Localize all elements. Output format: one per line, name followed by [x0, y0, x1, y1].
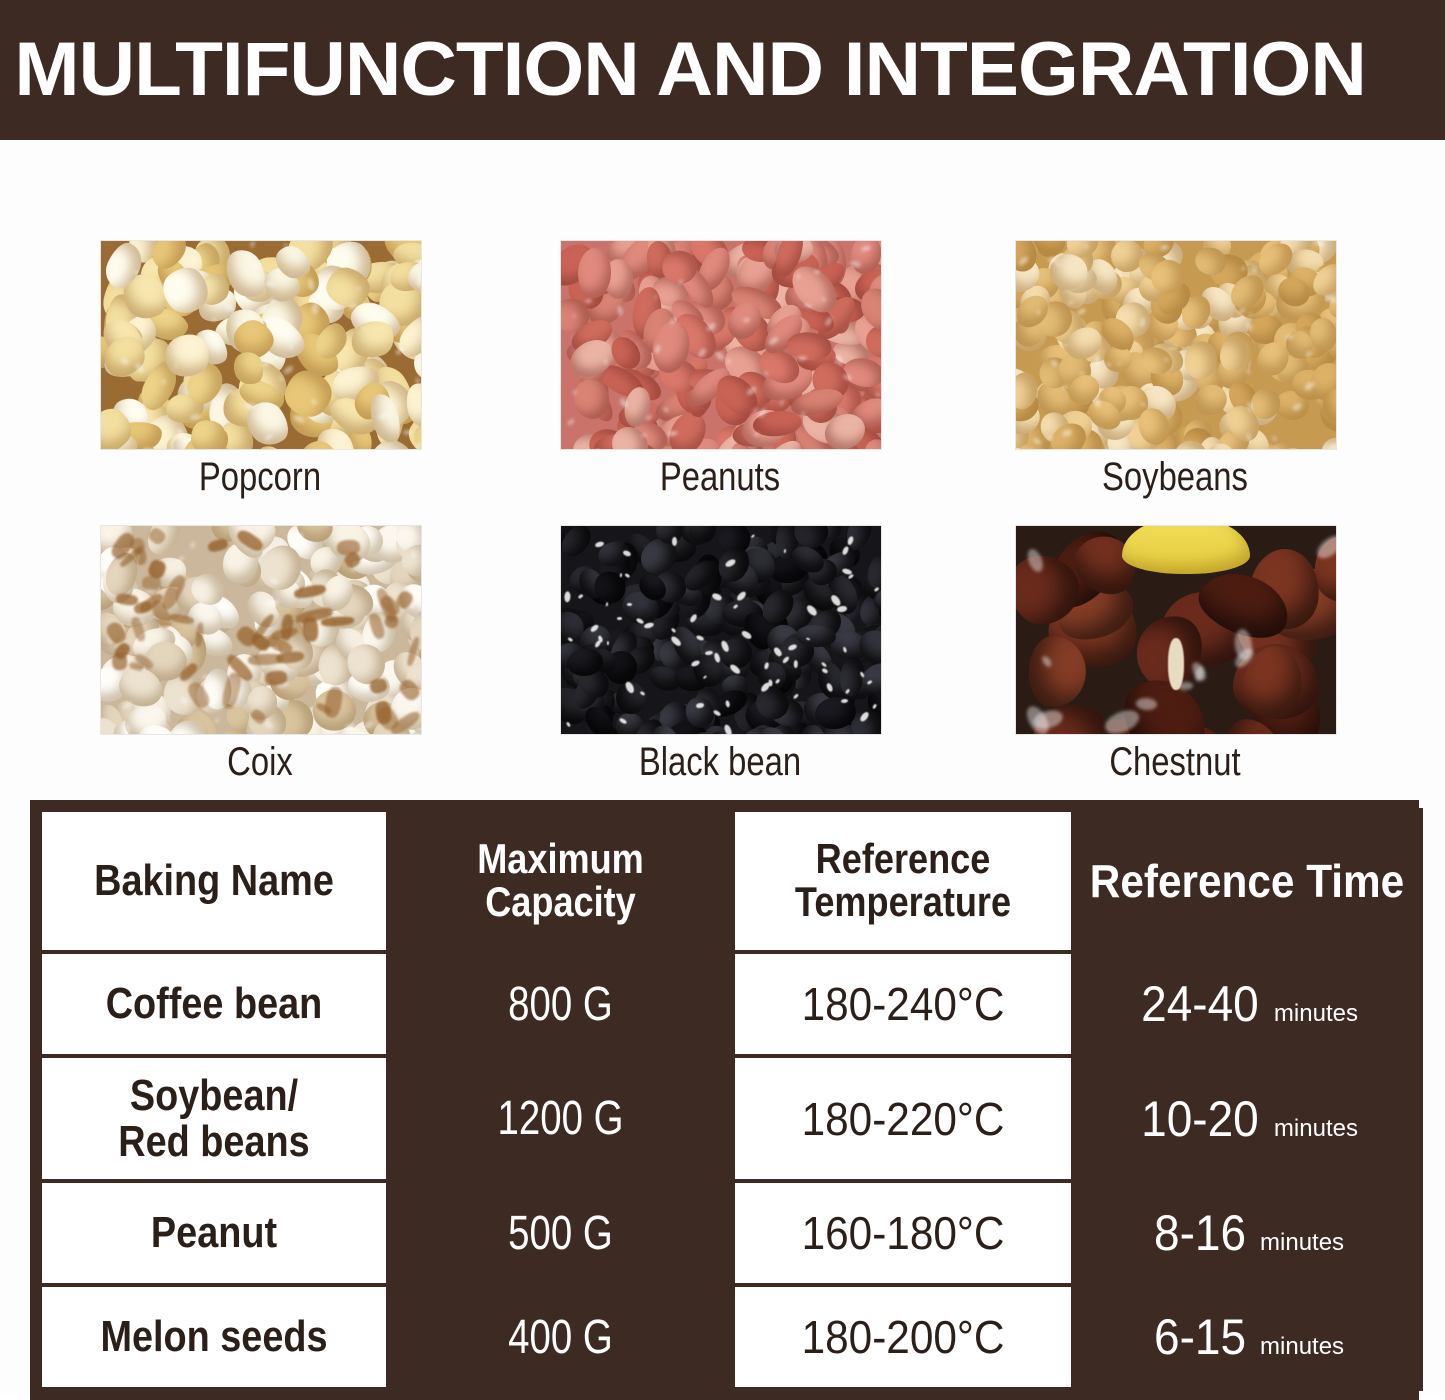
- gallery-item-label: Coix: [129, 741, 391, 783]
- time-value: 6-15: [1154, 1308, 1246, 1366]
- time-unit: minutes: [1274, 1115, 1358, 1142]
- table-row: Melon seeds 400 G 180-200°C 6-15minutes: [40, 1285, 1421, 1389]
- gallery-item-coix: Coix: [100, 525, 420, 783]
- cell-reference-temperature: 160-180°C: [733, 1181, 1073, 1285]
- cell-reference-time: 24-40minutes: [1073, 952, 1421, 1056]
- soybeans-photo: [1015, 240, 1337, 450]
- specification-table-container: Baking Name Maximum Capacity Reference T…: [30, 800, 1419, 1400]
- gallery-item-chestnut: Chestnut: [1015, 525, 1335, 783]
- table-row: Peanut 500 G 160-180°C 8-16minutes: [40, 1181, 1421, 1285]
- cell-reference-time: 6-15minutes: [1073, 1285, 1421, 1389]
- column-header-reference-temperature: Reference Temperature: [733, 810, 1073, 952]
- cell-baking-name: Coffee bean: [40, 952, 388, 1056]
- gallery-item-label: Soybeans: [1044, 456, 1306, 498]
- cell-reference-temperature: 180-220°C: [733, 1056, 1073, 1181]
- cell-maximum-capacity: 500 G: [388, 1181, 733, 1285]
- popcorn-photo: [100, 240, 422, 450]
- gallery-item-label: Peanuts: [589, 456, 851, 498]
- gallery-item-popcorn: Popcorn: [100, 240, 420, 498]
- column-header-maximum-capacity: Maximum Capacity: [388, 810, 733, 952]
- cell-baking-name: Peanut: [40, 1181, 388, 1285]
- gallery-item-black-bean: Black bean: [560, 525, 880, 783]
- time-value: 10-20: [1141, 1090, 1259, 1148]
- product-gallery: Popcorn Peanuts Soybeans Coix Black bean…: [0, 150, 1445, 790]
- column-header-baking-name: Baking Name: [40, 810, 388, 952]
- column-header-reference-time: Reference Time: [1073, 810, 1421, 952]
- cell-maximum-capacity: 400 G: [388, 1285, 733, 1389]
- cell-baking-name: Soybean/ Red beans: [40, 1056, 388, 1181]
- time-unit: minutes: [1260, 1229, 1344, 1256]
- time-value: 8-16: [1154, 1204, 1246, 1262]
- gallery-item-soybeans: Soybeans: [1015, 240, 1335, 498]
- cell-reference-time: 10-20minutes: [1073, 1056, 1421, 1181]
- cell-baking-name: Melon seeds: [40, 1285, 388, 1389]
- cell-reference-temperature: 180-240°C: [733, 952, 1073, 1056]
- gallery-item-label: Chestnut: [1044, 741, 1306, 783]
- cell-reference-temperature: 180-200°C: [733, 1285, 1073, 1389]
- time-unit: minutes: [1260, 1333, 1344, 1360]
- specification-table: Baking Name Maximum Capacity Reference T…: [38, 808, 1423, 1391]
- cell-maximum-capacity: 800 G: [388, 952, 733, 1056]
- gallery-item-label: Popcorn: [129, 456, 391, 498]
- gallery-item-label: Black bean: [589, 741, 851, 783]
- time-value: 24-40: [1141, 975, 1259, 1033]
- table-row: Soybean/ Red beans 1200 G 180-220°C 10-2…: [40, 1056, 1421, 1181]
- table-header-row: Baking Name Maximum Capacity Reference T…: [40, 810, 1421, 952]
- peanuts-photo: [560, 240, 882, 450]
- gallery-item-peanuts: Peanuts: [560, 240, 880, 498]
- chestnut-photo: [1015, 525, 1337, 735]
- black-bean-photo: [560, 525, 882, 735]
- page-title: MULTIFUNCTION AND INTEGRATION: [0, 32, 1366, 108]
- cell-reference-time: 8-16minutes: [1073, 1181, 1421, 1285]
- cell-maximum-capacity: 1200 G: [388, 1056, 733, 1181]
- coix-photo: [100, 525, 422, 735]
- table-row: Coffee bean 800 G 180-240°C 24-40minutes: [40, 952, 1421, 1056]
- header-banner: MULTIFUNCTION AND INTEGRATION: [0, 0, 1445, 140]
- time-unit: minutes: [1274, 1000, 1358, 1027]
